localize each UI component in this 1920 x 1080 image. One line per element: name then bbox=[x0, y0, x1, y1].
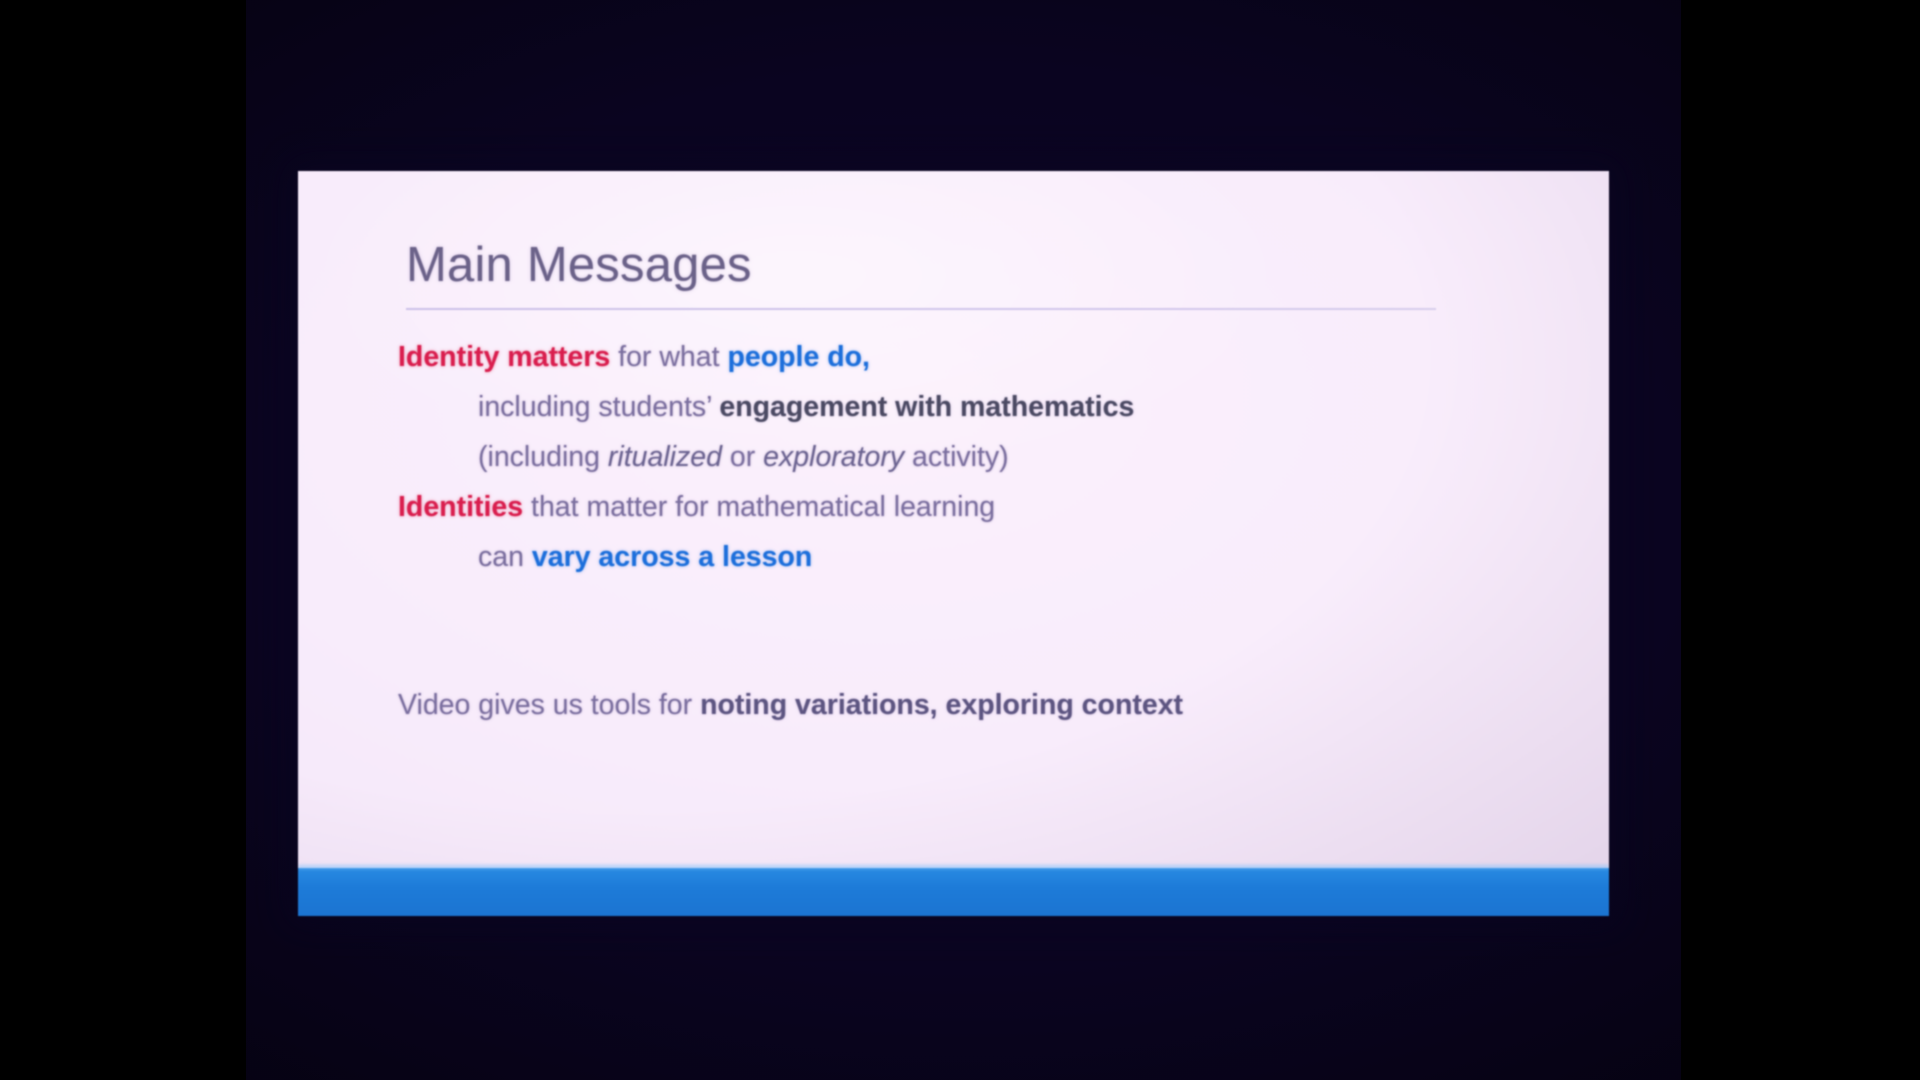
text-run: activity) bbox=[904, 441, 1009, 473]
letterbox-bar-right bbox=[1681, 0, 1920, 1080]
text-run: engagement with mathematics bbox=[719, 391, 1134, 423]
text-run: or bbox=[722, 441, 763, 473]
text-run: including students’ bbox=[478, 391, 719, 423]
title-underline-rule bbox=[406, 308, 1436, 310]
presentation-slide: Main Messages Identity matters for what … bbox=[298, 171, 1609, 916]
text-run: ritualized bbox=[608, 441, 722, 473]
line-identity-matters: Identity matters for what people do, bbox=[398, 332, 1609, 382]
text-run: people do bbox=[727, 341, 862, 373]
slide-footer-band bbox=[298, 868, 1609, 916]
text-run: , bbox=[862, 341, 870, 373]
screen-capture: Main Messages Identity matters for what … bbox=[0, 0, 1920, 1080]
text-run: Identity matters bbox=[398, 341, 610, 373]
slide-body-lines: Identity matters for what people do,incl… bbox=[298, 332, 1609, 730]
line-engagement: including students’ engagement with math… bbox=[398, 382, 1609, 432]
text-run: for what bbox=[610, 341, 727, 373]
line-ritualized-exploratory: (including ritualized or exploratory act… bbox=[398, 432, 1609, 482]
slide-title: Main Messages bbox=[406, 241, 1609, 290]
line-video-tools: Video gives us tools for noting variatio… bbox=[398, 680, 1609, 730]
letterbox-bar-left bbox=[0, 0, 246, 1080]
text-run: vary across a lesson bbox=[532, 541, 812, 573]
text-run: Video gives us tools for bbox=[398, 689, 700, 721]
text-run: (including bbox=[478, 441, 608, 473]
text-run: Identities bbox=[398, 491, 523, 523]
text-run: exploratory bbox=[763, 441, 904, 473]
line-blank bbox=[398, 582, 1609, 632]
text-run: noting variations, exploring context bbox=[700, 689, 1183, 721]
line-vary-across-lesson: can vary across a lesson bbox=[398, 532, 1609, 582]
text-run: that matter for mathematical learning bbox=[523, 491, 995, 523]
text-run: can bbox=[478, 541, 532, 573]
line-identities-matter: Identities that matter for mathematical … bbox=[398, 482, 1609, 532]
slide-content: Main Messages Identity matters for what … bbox=[298, 171, 1609, 730]
